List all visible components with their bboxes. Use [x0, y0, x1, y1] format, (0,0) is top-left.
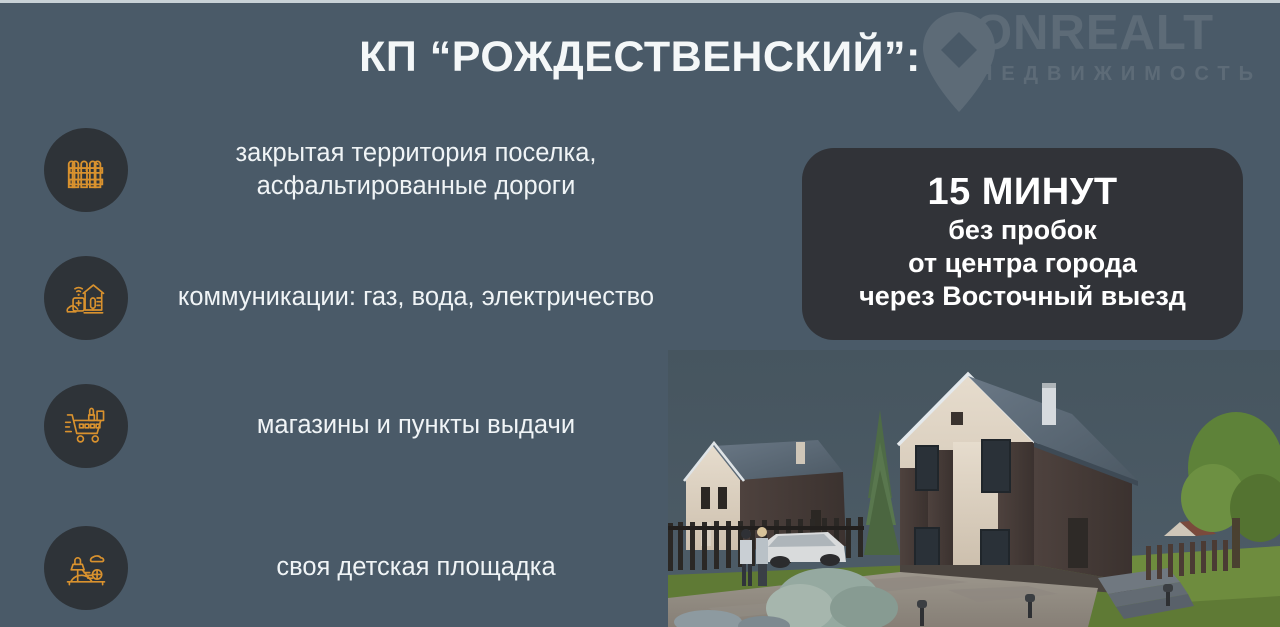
travel-time-headline: 15 МИНУТ [927, 171, 1117, 214]
travel-time-line-3: через Восточный выезд [859, 280, 1186, 313]
list-item: закрытая территория поселка, асфальтиров… [44, 128, 704, 212]
list-item: магазины и пункты выдачи [44, 384, 704, 468]
list-item-label: закрытая территория поселка, асфальтиров… [128, 137, 704, 203]
house-render-illustration [668, 350, 1280, 627]
feature-icon-badge [44, 384, 128, 468]
list-item-label: своя детская площадка [128, 551, 704, 584]
house-render-photo [668, 350, 1280, 627]
feature-icon-badge [44, 128, 128, 212]
list-item: своя детская площадка [44, 526, 704, 610]
feature-icon-badge [44, 526, 128, 610]
playground-icon [62, 544, 110, 592]
top-divider [0, 0, 1280, 3]
shopping-cart-icon [62, 402, 110, 450]
fence-icon [63, 147, 109, 193]
page-title: КП “РОЖДЕСТВЕНСКИЙ”: [0, 33, 1280, 82]
travel-time-line-2: от центра города [908, 247, 1137, 280]
feature-icon-badge [44, 256, 128, 340]
list-item-label: коммуникации: газ, вода, электричество [128, 281, 704, 314]
list-item: коммуникации: газ, вода, электричество [44, 256, 704, 340]
smart-home-utilities-icon [62, 274, 110, 322]
travel-time-card: 15 МИНУТ без пробок от центра города чер… [802, 148, 1243, 340]
travel-time-line-1: без пробок [948, 214, 1097, 247]
list-item-label: магазины и пункты выдачи [128, 409, 704, 442]
feature-list: закрытая территория поселка, асфальтиров… [44, 128, 704, 627]
promo-slide: ONREALT НЕДВИЖИМОСТЬ КП “РОЖДЕСТВЕНСКИЙ”… [0, 0, 1280, 627]
